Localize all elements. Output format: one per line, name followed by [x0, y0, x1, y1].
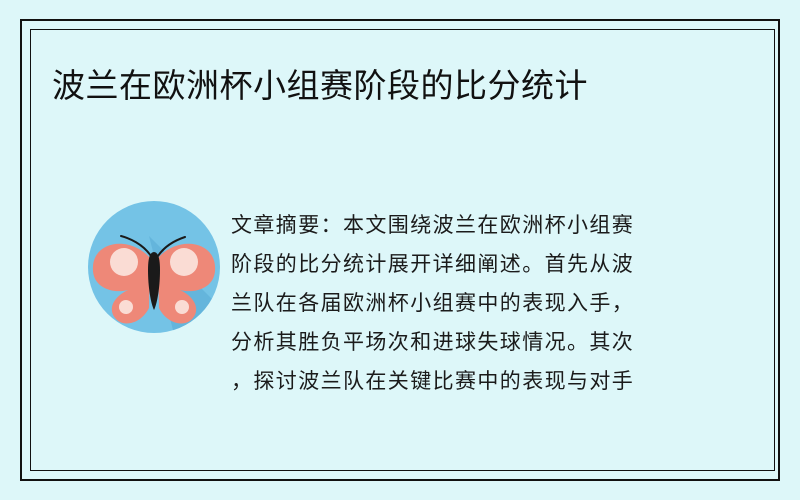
abstract-line: ，探讨波兰队在关键比赛中的表现与对手	[231, 362, 767, 401]
article-card: 波兰在欧洲杯小组赛阶段的比分统计	[0, 0, 800, 500]
abstract-line: 兰队在各届欧洲杯小组赛中的表现入手，	[231, 284, 767, 323]
abstract-line: 阶段的比分统计展开详细阐述。首先从波	[231, 245, 767, 284]
page-title: 波兰在欧洲杯小组赛阶段的比分统计	[52, 64, 752, 108]
abstract-line: 分析其胜负平场次和进球失球情况。其次	[231, 323, 767, 362]
butterfly-icon	[83, 196, 225, 338]
abstract-line: 文章摘要：本文围绕波兰在欧洲杯小组赛	[231, 206, 767, 245]
article-abstract: 文章摘要：本文围绕波兰在欧洲杯小组赛 阶段的比分统计展开详细阐述。首先从波 兰队…	[231, 206, 767, 401]
